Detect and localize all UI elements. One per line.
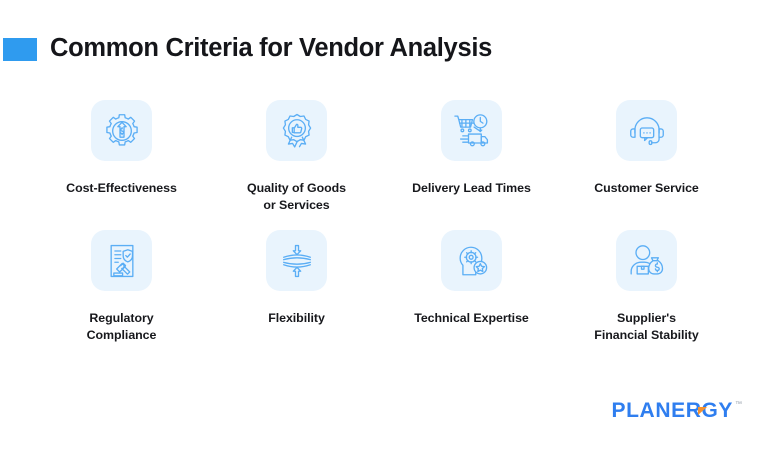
criterion-label: Regulatory Compliance [87,310,157,343]
criterion-technical-expertise: Technical Expertise [384,230,559,360]
flexible-lines-arrows-icon [277,241,317,281]
criterion-customer-service: Customer Service [559,100,734,230]
criterion-supplier-financial-stability: Supplier's Financial Stability [559,230,734,360]
head-gear-star-icon [452,241,492,281]
page-header: Common Criteria for Vendor Analysis [0,33,492,65]
criterion-flexibility: Flexibility [209,230,384,360]
gear-dollar-arrow-icon [102,111,142,151]
criterion-label: Quality of Goods or Services [247,180,346,213]
criterion-icon-tile [266,230,327,291]
criterion-icon-tile [91,230,152,291]
criterion-icon-tile [441,230,502,291]
headset-chat-icon [627,111,667,151]
page-title: Common Criteria for Vendor Analysis [50,36,492,62]
criterion-icon-tile [616,230,677,291]
criterion-label: Customer Service [594,180,699,197]
planergy-logo: PLANERGY ™ [612,400,742,421]
cart-clock-truck-icon [451,110,493,152]
person-box-moneybag-icon [627,241,667,281]
document-shield-gavel-icon [102,241,142,281]
title-accent-bar [3,38,37,61]
criterion-cost-effectiveness: Cost-Effectiveness [34,100,209,230]
criterion-icon-tile [91,100,152,161]
criteria-grid: Cost-Effectiveness Quality of Goods or S… [34,100,734,360]
criterion-label: Cost-Effectiveness [66,180,177,197]
criterion-label: Delivery Lead Times [412,180,531,197]
criterion-delivery-lead-times: Delivery Lead Times [384,100,559,230]
criterion-quality-of-goods: Quality of Goods or Services [209,100,384,230]
criterion-icon-tile [616,100,677,161]
logo-wordmark: PLANERGY [612,400,733,421]
criterion-label: Supplier's Financial Stability [594,310,698,343]
logo-trademark: ™ [735,401,742,408]
criterion-icon-tile [266,100,327,161]
criterion-icon-tile [441,100,502,161]
logo-accent-triangle-icon [698,407,707,415]
criterion-regulatory-compliance: Regulatory Compliance [34,230,209,360]
criterion-label: Technical Expertise [414,310,529,327]
criterion-label: Flexibility [268,310,325,327]
award-thumbs-up-icon [277,111,317,151]
